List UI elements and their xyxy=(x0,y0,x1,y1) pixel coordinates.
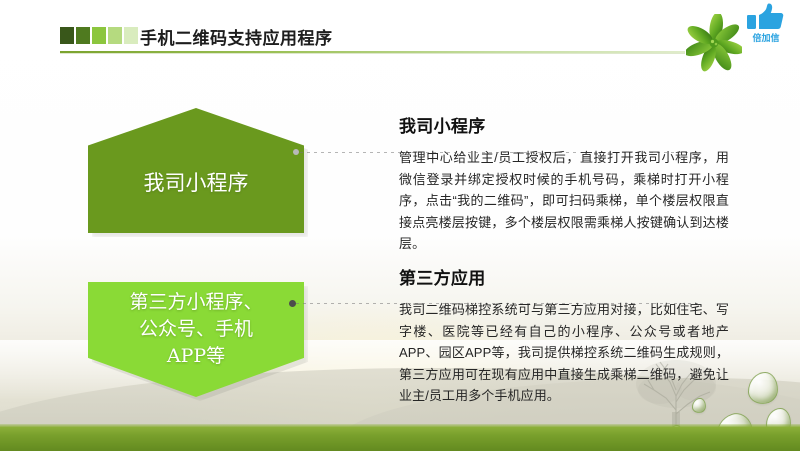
section-body-third-party-apps: 我司二维码梯控系统可与第三方应用对接，比如住宅、写字楼、医院等已经有自己的小程序… xyxy=(399,299,729,407)
slide-header: 手机二维码支持应用程序 xyxy=(0,0,800,72)
header-square-swatches xyxy=(60,27,138,44)
section-our-miniprogram: 我司小程序 管理中心给业主/员工授权后，直接打开我司小程序，用微信登录并绑定授权… xyxy=(399,116,729,255)
section-body-our-miniprogram: 管理中心给业主/员工授权后，直接打开我司小程序，用微信登录并绑定授权时候的手机号… xyxy=(399,147,729,255)
header-square-3 xyxy=(92,27,106,44)
leaf-cluster-icon xyxy=(686,14,742,72)
connector-dot-1 xyxy=(293,149,299,155)
header-square-1 xyxy=(60,27,74,44)
shape-label-third-party-apps: 第三方小程序、 公众号、手机 APP等 xyxy=(121,289,270,390)
bottom-bar xyxy=(0,427,800,451)
shape-label-line-3: APP等 xyxy=(129,343,262,370)
logo-text: 倍加信 xyxy=(740,33,792,43)
slide-root: 手机二维码支持应用程序 xyxy=(0,0,800,451)
water-droplet-icon xyxy=(748,372,778,404)
header-divider-shadow xyxy=(60,53,685,54)
shape-label-our-miniprogram: 我司小程序 xyxy=(136,169,257,198)
shape-label-line-1: 第三方小程序、 xyxy=(129,289,262,316)
thumbs-up-icon xyxy=(746,2,786,32)
shape-label-line-2: 公众号、手机 xyxy=(129,316,262,343)
header-square-5 xyxy=(124,27,138,44)
page-title: 手机二维码支持应用程序 xyxy=(140,24,333,49)
section-heading-our-miniprogram: 我司小程序 xyxy=(399,116,729,138)
section-third-party-apps: 第三方应用 我司二维码梯控系统可与第三方应用对接，比如住宅、写字楼、医院等已经有… xyxy=(399,268,729,407)
section-heading-third-party-apps: 第三方应用 xyxy=(399,268,729,290)
content-column: 我司小程序 管理中心给业主/员工授权后，直接打开我司小程序，用微信登录并绑定授权… xyxy=(399,116,729,269)
company-logo: 倍加信 xyxy=(740,2,792,48)
header-square-2 xyxy=(76,27,90,44)
connector-dot-2 xyxy=(289,300,296,307)
header-square-4 xyxy=(108,27,122,44)
